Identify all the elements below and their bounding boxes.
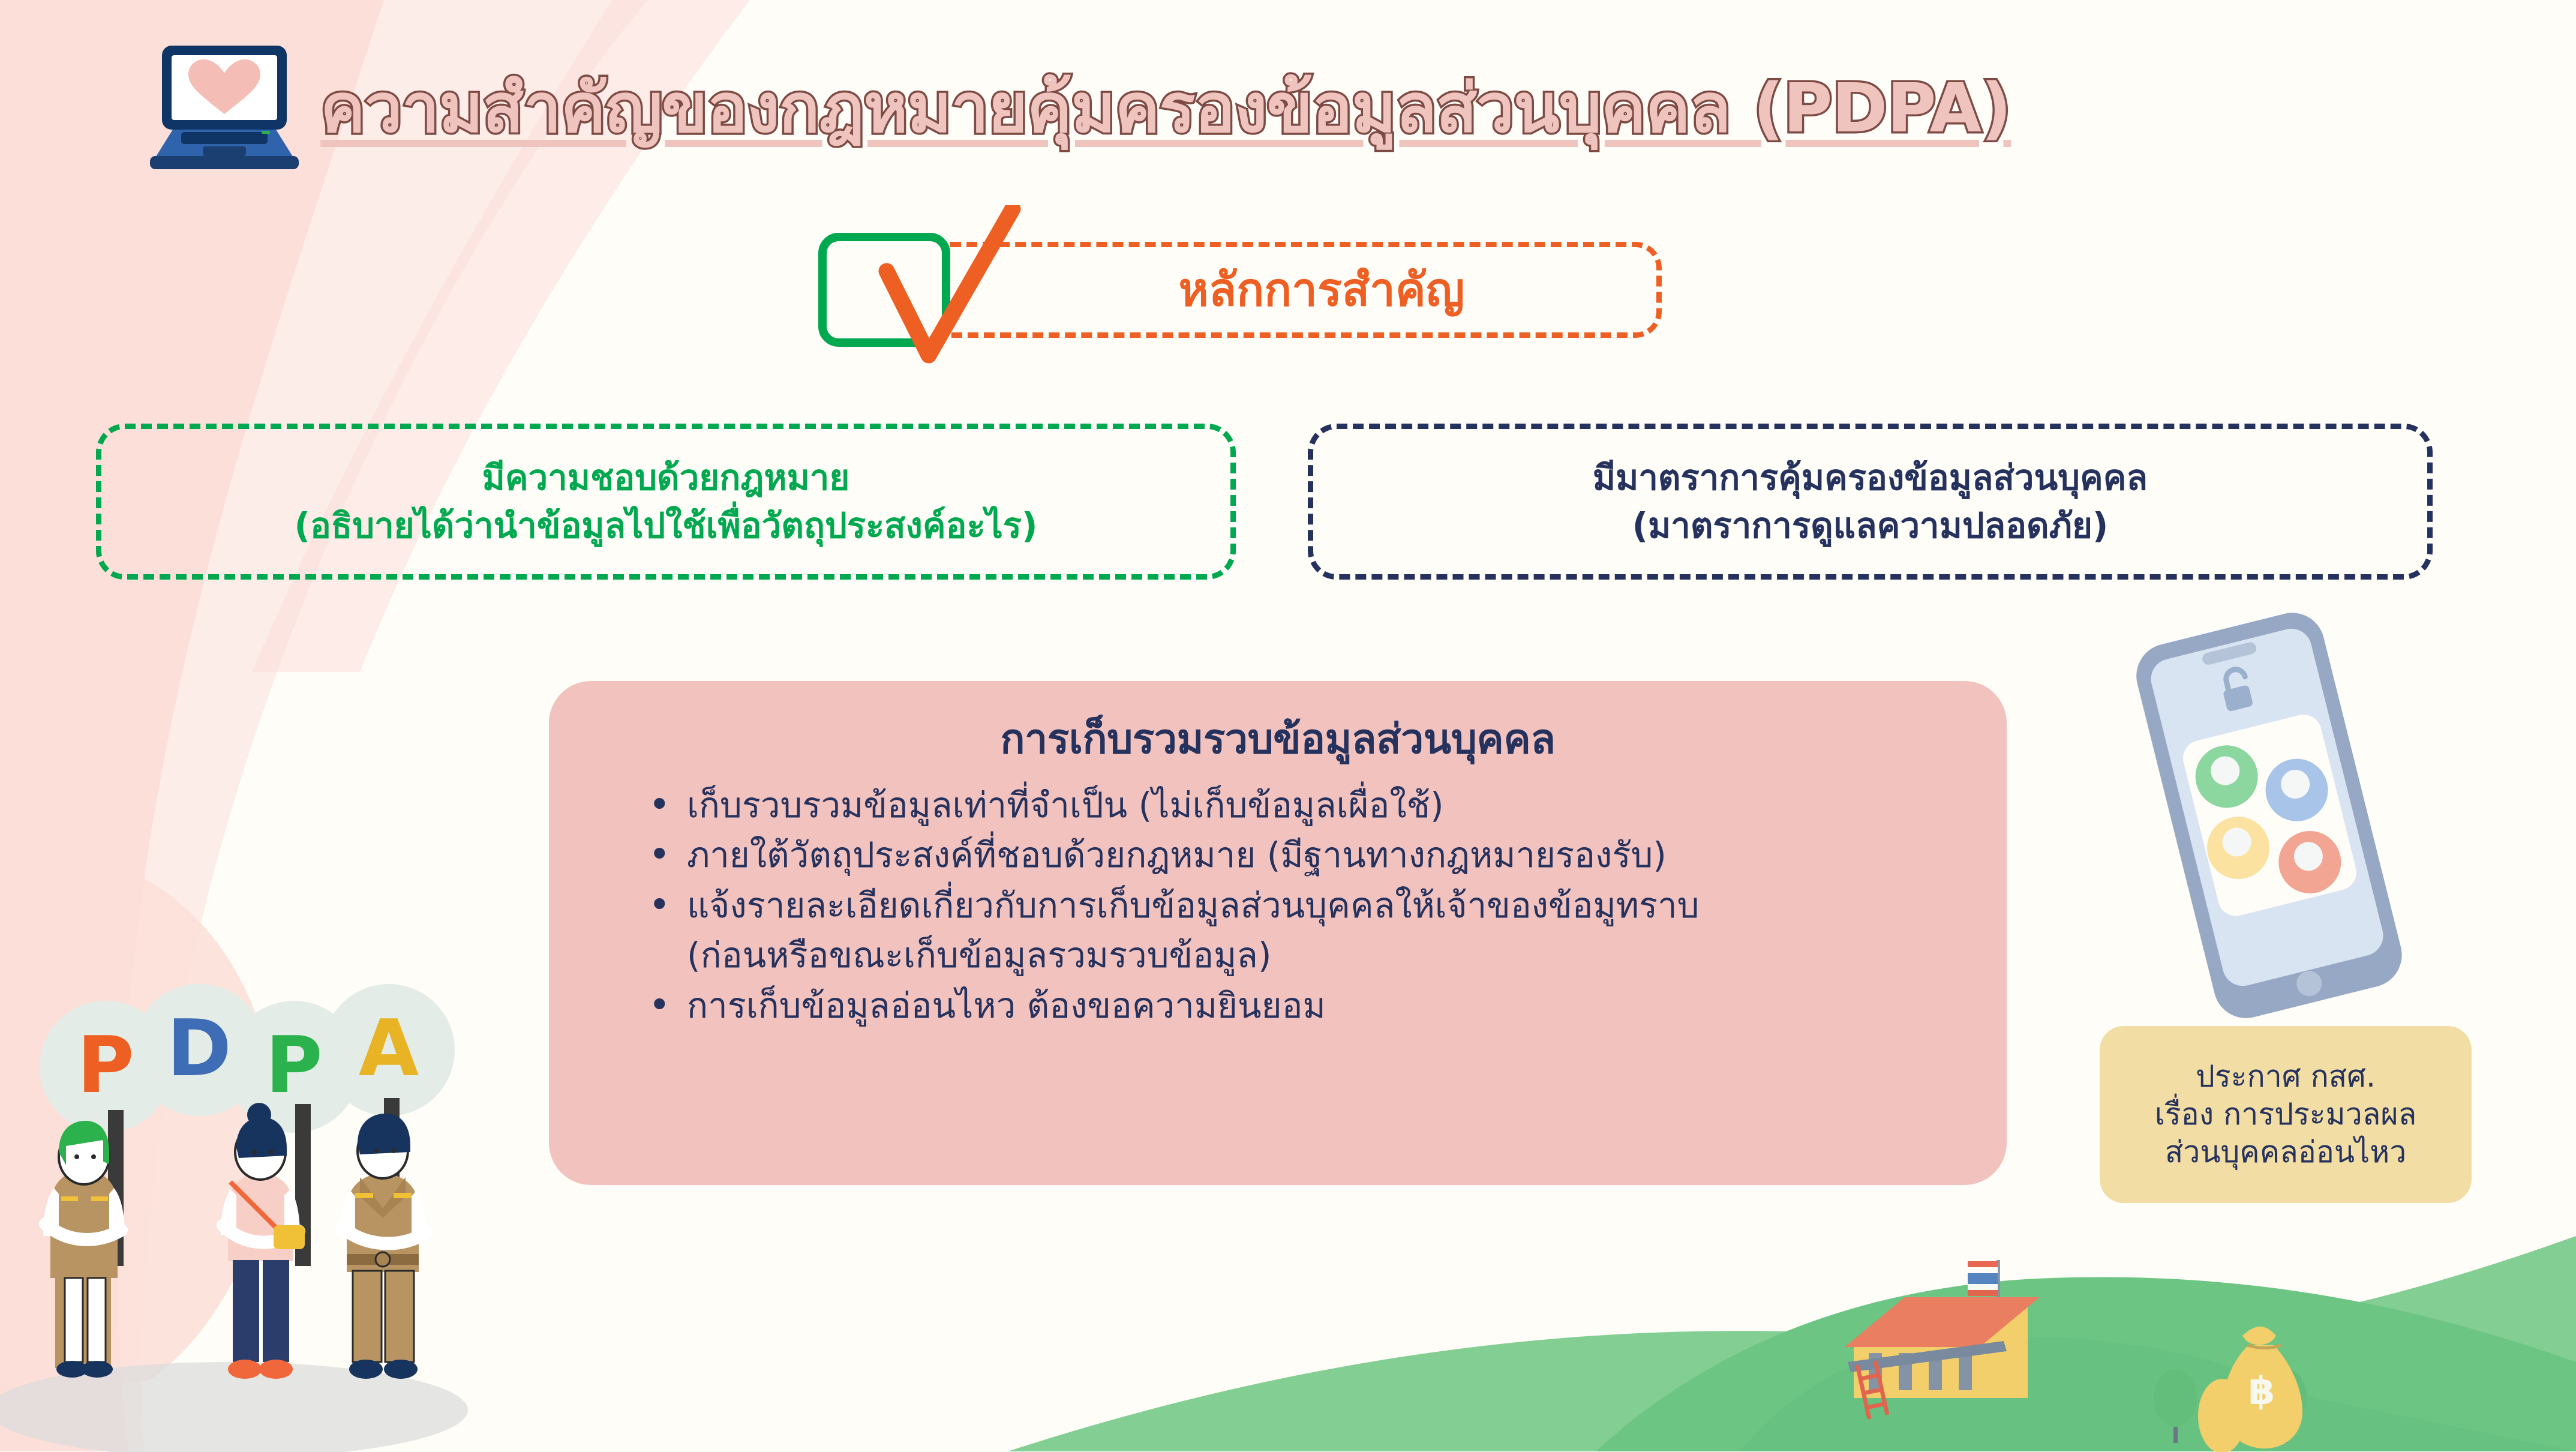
legal-basis-line1: มีความชอบด้วยกฎหมาย xyxy=(482,454,850,502)
list-item-continuation: (ก่อนหรือขณะเก็บข้อมูลรวมรวบข้อมูล) xyxy=(648,933,1983,978)
note-line-3: ส่วนบุคคลอ่อนไหว xyxy=(2165,1133,2406,1171)
note-line-2: เรื่อง การประมวลผล xyxy=(2155,1096,2417,1133)
principle-box-legal-basis: มีความชอบด้วยกฎหมาย (อธิบายได้ว่านำข้อมู… xyxy=(96,424,1236,580)
collection-bullet-list: เก็บรวบรวมข้อมูลเท่าที่จำเป็น (ไม่เก็บข้… xyxy=(573,783,1983,1028)
page-title: ความสำคัญของกฎหมายคุ้มครองข้อมูลส่วนบุคค… xyxy=(320,75,2011,142)
sign-letter-p2: P xyxy=(265,1019,322,1111)
list-item: เก็บรวบรวมข้อมูลเท่าที่จำเป็น (ไม่เก็บข้… xyxy=(648,783,1983,828)
baht-symbol: ฿ xyxy=(2248,1369,2275,1414)
person-pink-shirt-woman xyxy=(221,1103,305,1379)
smartphone-with-profile-avatars xyxy=(2082,600,2454,1044)
list-item: แจ้งรายละเอียดเกี่ยวกับการเก็บข้อมูลส่วน… xyxy=(648,883,1983,928)
security-measure-line1: มีมาตราการคุ้มครองข้อมูลส่วนบุคคล xyxy=(1593,454,2148,502)
key-principle-pill: หลักการสำคัญ xyxy=(924,242,1662,338)
collection-heading: การเก็บรวมรวบข้อมูลส่วนบุคคล xyxy=(573,706,1983,771)
people-holding-pdpa-signs: P D P A xyxy=(0,954,504,1452)
sign-letter-d: D xyxy=(167,1003,232,1094)
money-bag-icon: ฿ xyxy=(2223,1327,2302,1448)
sign-letter-a: A xyxy=(359,1003,419,1094)
person-officer-man xyxy=(340,1114,427,1379)
note-line-1: ประกาศ กสศ. xyxy=(2196,1058,2376,1096)
collection-card: การเก็บรวมรวบข้อมูลส่วนบุคคล เก็บรวบรวมข… xyxy=(549,681,2007,1185)
sign-letter-p1: P xyxy=(77,1019,134,1111)
security-measure-line2: (มาตราการดูแลความปลอดภัย) xyxy=(1632,502,2109,550)
rural-school-with-thai-flag: ฿ xyxy=(1740,1224,2576,1452)
principle-box-security-measure: มีมาตราการคุ้มครองข้อมูลส่วนบุคคล (มาตรา… xyxy=(1308,424,2433,580)
note-card-announcement: ประกาศ กสศ. เรื่อง การประมวลผล ส่วนบุคคล… xyxy=(2100,1026,2472,1203)
key-principle-banner: หลักการสำคัญ xyxy=(818,233,1662,347)
laptop-heart-icon xyxy=(144,41,305,170)
thai-flag-icon xyxy=(1968,1261,1998,1296)
list-item: การเก็บข้อมูลอ่อนไหว ต้องขอความยินยอม xyxy=(648,983,1983,1028)
key-principle-label: หลักการสำคัญ xyxy=(1179,254,1465,326)
page-title-row: ความสำคัญของกฎหมายคุ้มครองข้อมูลส่วนบุคค… xyxy=(144,36,2412,174)
legal-basis-line2: (อธิบายได้ว่านำข้อมูลไปใช้เพื่อวัตถุประส… xyxy=(295,502,1038,550)
list-item: ภายใต้วัตถุประสงค์ที่ชอบด้วยกฎหมาย (มีฐา… xyxy=(648,833,1983,878)
check-mark-icon xyxy=(871,205,1027,373)
